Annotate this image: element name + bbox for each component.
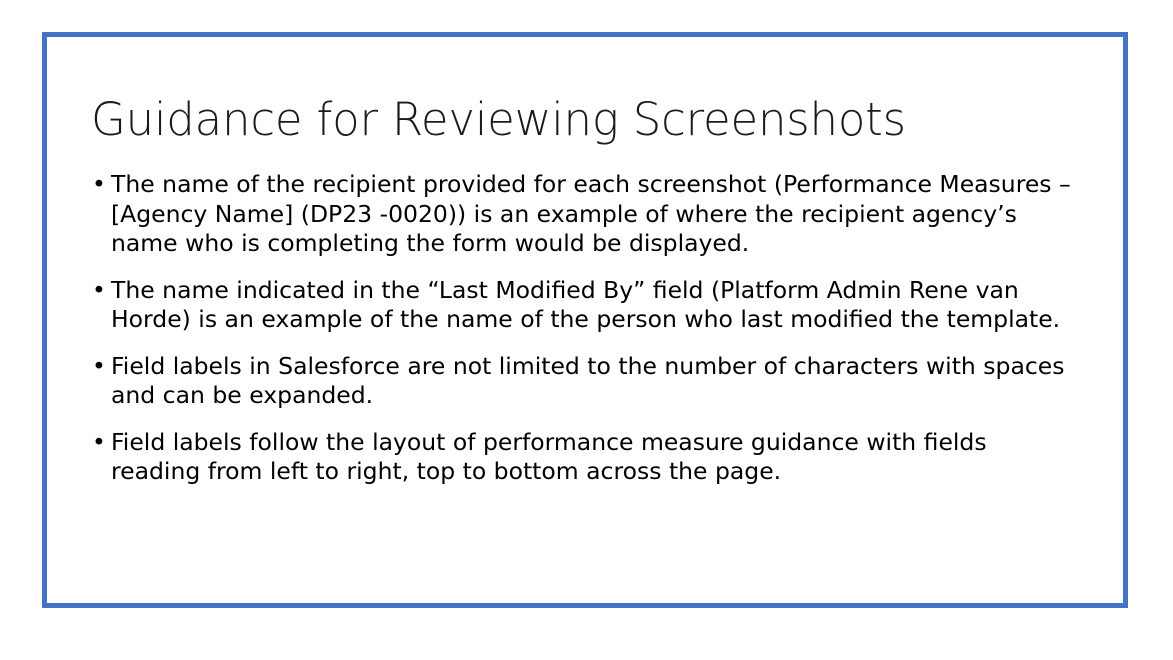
list-item: • The name indicated in the “Last Modifi…: [88, 276, 1073, 335]
list-item-text: The name of the recipient provided for e…: [111, 170, 1073, 259]
bullet-point-icon: •: [92, 428, 106, 458]
list-item-text: The name indicated in the “Last Modified…: [111, 276, 1073, 335]
list-item-text: Field labels follow the layout of perfor…: [111, 428, 1073, 487]
list-item: • Field labels in Salesforce are not lim…: [88, 352, 1073, 411]
list-item: • Field labels follow the layout of perf…: [88, 428, 1073, 487]
bullet-point-icon: •: [92, 170, 106, 200]
list-item-text: Field labels in Salesforce are not limit…: [111, 352, 1073, 411]
list-item: • The name of the recipient provided for…: [88, 170, 1073, 259]
bullet-point-icon: •: [92, 352, 106, 382]
slide-canvas: Guidance for Reviewing Screenshots • The…: [0, 0, 1173, 660]
bullet-point-icon: •: [92, 276, 106, 306]
bullet-list: • The name of the recipient provided for…: [88, 170, 1073, 487]
page-title: Guidance for Reviewing Screenshots: [91, 92, 1041, 148]
